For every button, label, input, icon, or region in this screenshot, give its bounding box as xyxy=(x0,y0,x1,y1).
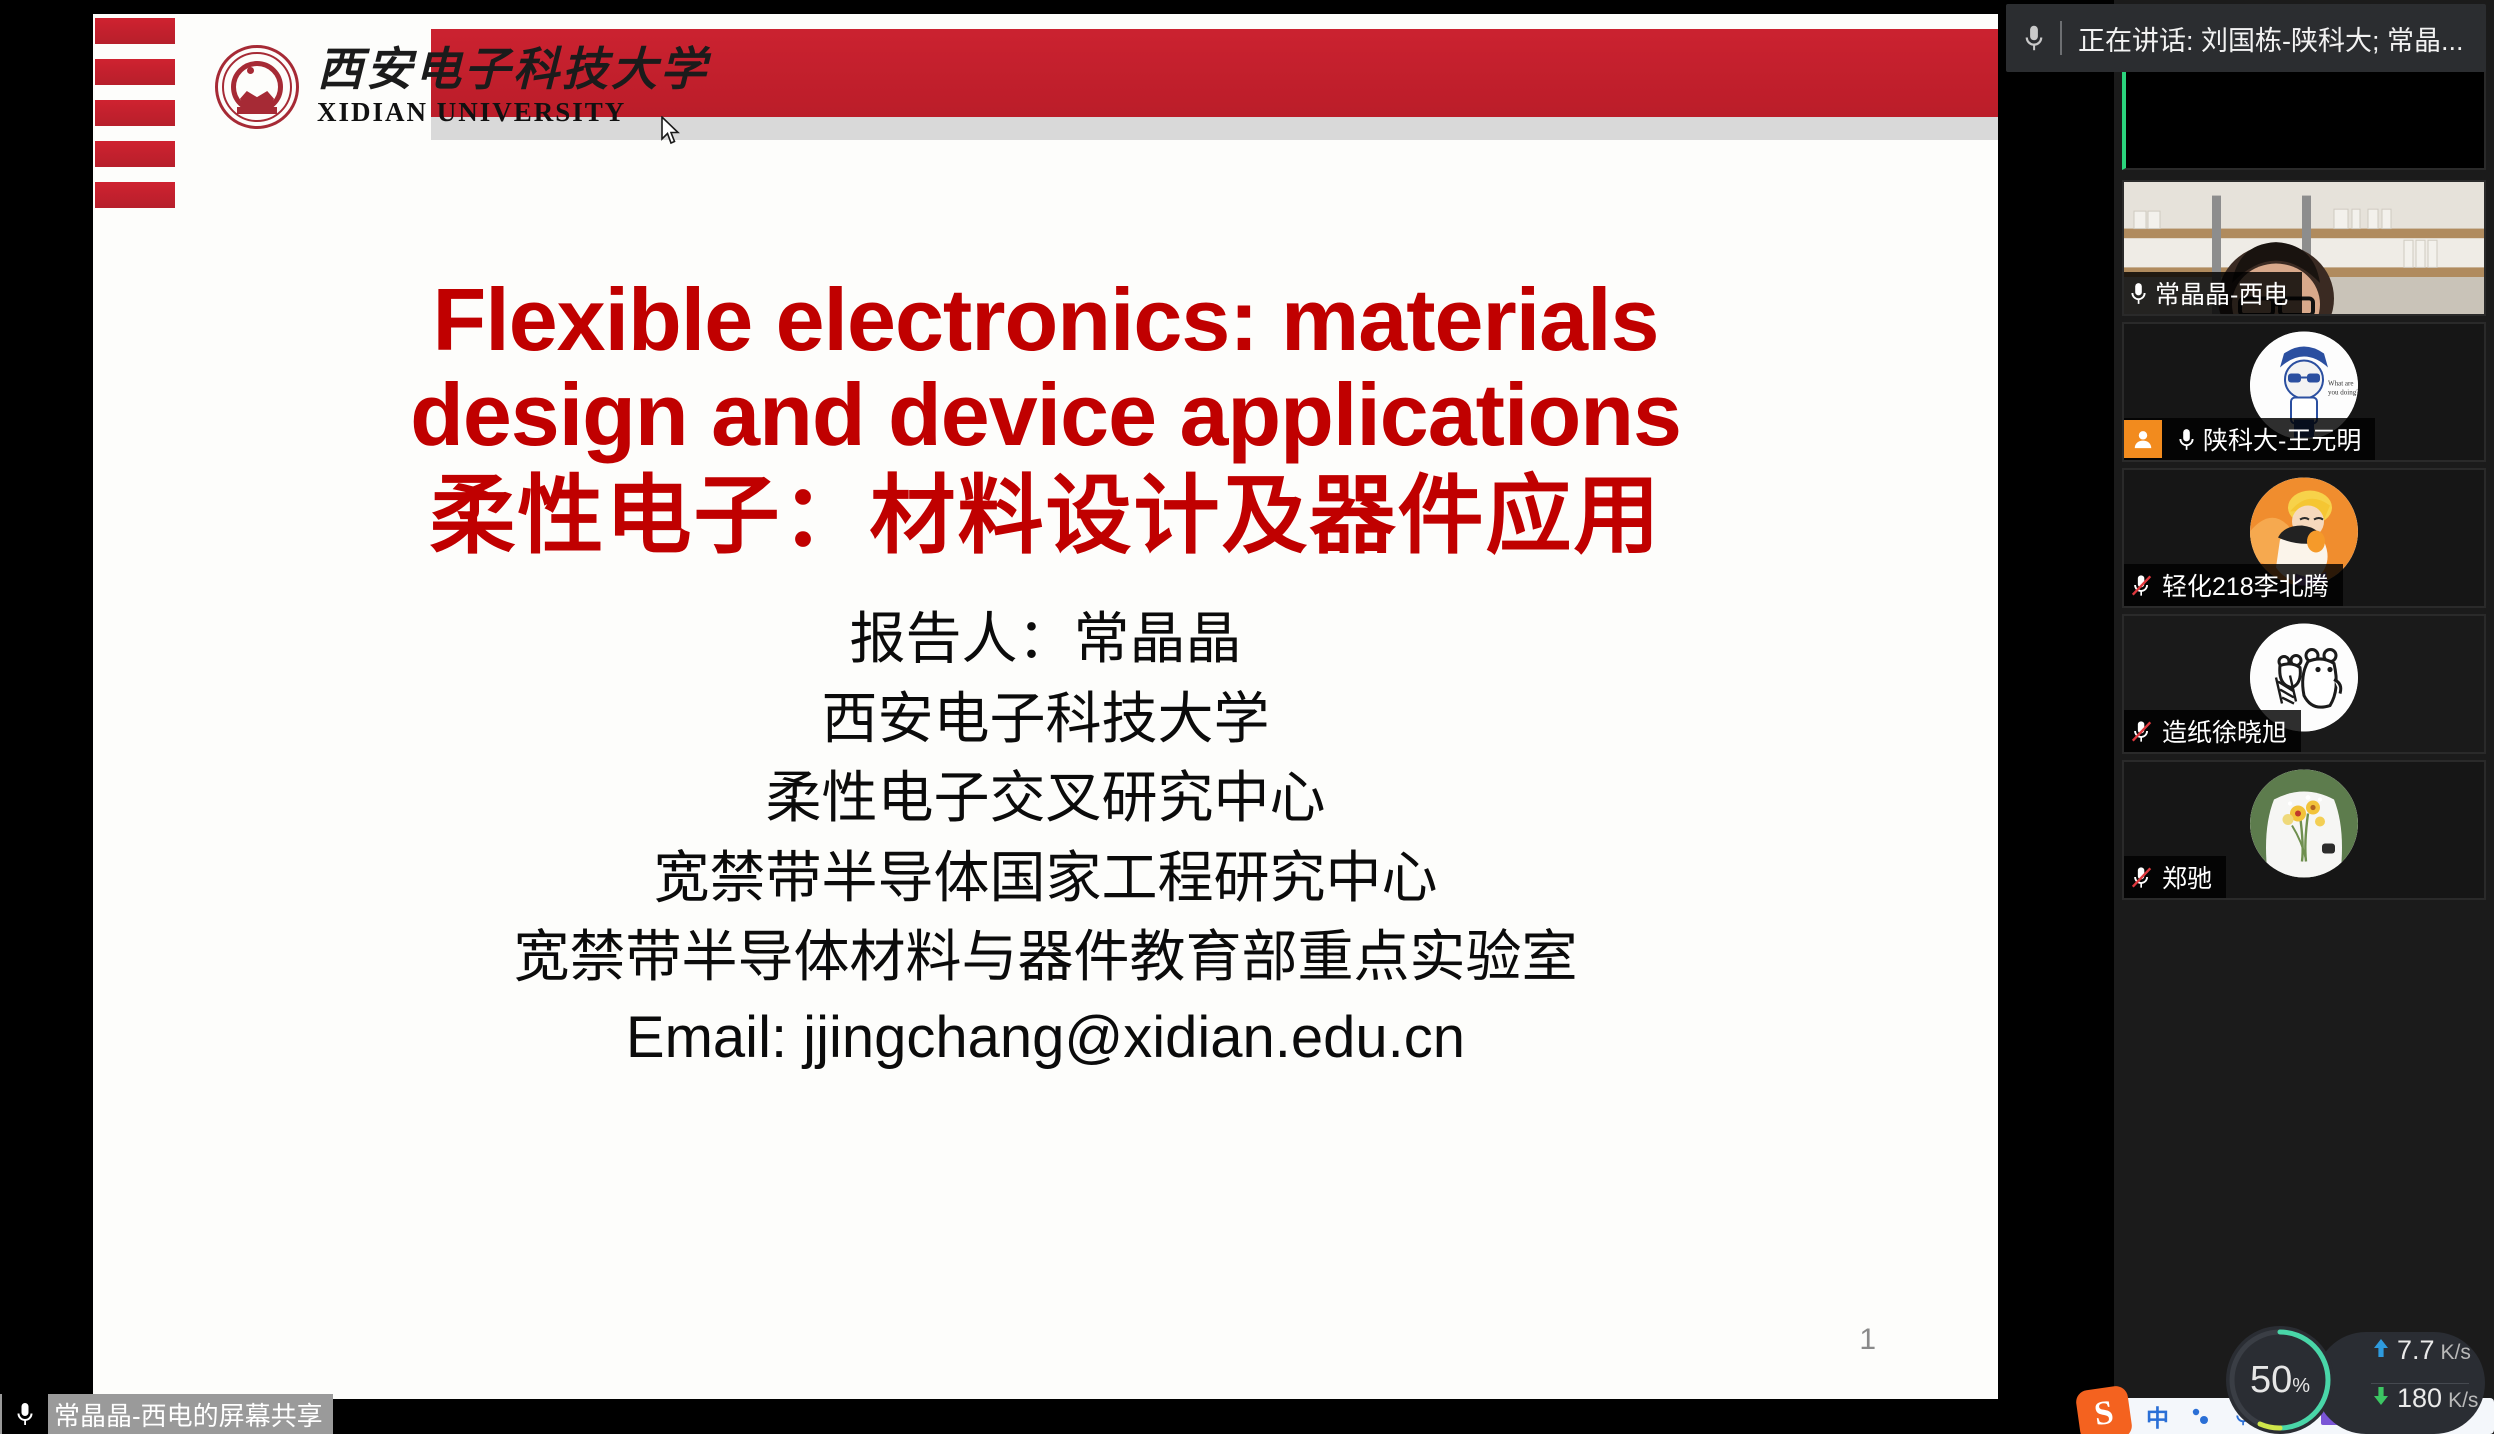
svg-text:What are: What are xyxy=(2328,380,2353,388)
gauge-value: 50 xyxy=(2250,1359,2292,1401)
participant-name-bar: 常晶晶-西电 xyxy=(2124,272,2302,314)
upload-speed-row: 7.7 K/s xyxy=(2371,1335,2485,1383)
participant-tile[interactable]: What are you doing? xyxy=(2122,322,2486,462)
participant-name-bar: 轻化218李北腾 xyxy=(2124,564,2343,606)
screen-share-status-pill: 常晶晶-西电的屏幕共享 xyxy=(0,1394,333,1434)
participant-tile[interactable]: 郑驰 xyxy=(2122,760,2486,900)
punctuation-icon[interactable] xyxy=(2189,1405,2213,1427)
gauge-label: 50% xyxy=(2250,1359,2310,1402)
slide-title: Flexible electronics: materials design a… xyxy=(93,272,1998,568)
participant-panel[interactable]: 常晶晶-西电 What are you d xyxy=(2000,0,2494,1434)
sogou-logo-icon[interactable]: S xyxy=(2075,1385,2134,1434)
network-speed-overlay: 7.7 K/s 180 K/s xyxy=(2315,1332,2485,1434)
ime-language-toggle[interactable]: 中 xyxy=(2146,1399,2169,1433)
participant-name-bar: 造纸徐晓旭 xyxy=(2124,710,2301,752)
participant-name-bar: 郑驰 xyxy=(2124,856,2226,898)
upload-speed-unit: K/s xyxy=(2441,1341,2471,1365)
participant-name: 轻化218李北腾 xyxy=(2162,567,2329,603)
resource-usage-gauge[interactable]: 50% xyxy=(2226,1326,2334,1434)
slide-body-line-4: 宽禁带半导体国家工程研究中心 xyxy=(93,838,1998,918)
xidian-crest-icon xyxy=(215,45,299,129)
microphone-icon xyxy=(2024,23,2044,53)
university-name-cn: 西安电子科技大学 xyxy=(317,46,709,94)
arrow-down-icon xyxy=(2371,1385,2391,1407)
participant-tile[interactable] xyxy=(2122,70,2486,170)
mic-on-icon xyxy=(2178,427,2195,452)
slide-email: Email: jjingchang@xidian.edu.cn xyxy=(93,997,1998,1079)
slide-title-line1: Flexible electronics: materials xyxy=(93,272,1998,367)
mic-muted-icon xyxy=(2130,573,2154,598)
active-speaker-text: 正在讲话: 刘国栋-陕科大; 常晶... xyxy=(2078,19,2464,58)
download-speed-value: 180 xyxy=(2397,1383,2442,1414)
banner-divider xyxy=(2060,21,2062,55)
slide-title-line3: 柔性电子：材料设计及器件应用 xyxy=(93,466,1998,567)
download-speed-row: 180 K/s xyxy=(2371,1383,2485,1431)
participant-tile[interactable]: 造纸徐晓旭 xyxy=(2122,614,2486,754)
upload-speed-value: 7.7 xyxy=(2397,1335,2435,1366)
mouse-cursor-icon xyxy=(660,116,682,146)
screen-root: 西安电子科技大学 XIDIAN UNIVERSITY Flexible elec… xyxy=(0,0,2494,1434)
overlay-divider xyxy=(2371,1383,2469,1384)
participant-scroll-area[interactable]: 常晶晶-西电 What are you d xyxy=(2114,0,2494,1434)
participant-tile[interactable]: 轻化218李北腾 xyxy=(2122,468,2486,608)
svg-text:you doing?: you doing? xyxy=(2328,389,2358,397)
slide-body: 报告人：常晶晶 西安电子科技大学 柔性电子交叉研究中心 宽禁带半导体国家工程研究… xyxy=(93,599,1998,1079)
slide-title-line2: design and device applications xyxy=(93,367,1998,462)
university-name-en: XIDIAN UNIVERSITY xyxy=(317,97,709,128)
slide-body-line-3: 柔性电子交叉研究中心 xyxy=(93,758,1998,838)
avatar xyxy=(2250,770,2358,878)
mic-muted-icon xyxy=(2130,719,2154,744)
participant-name: 常晶晶-西电 xyxy=(2155,275,2288,311)
mic-on-icon xyxy=(2130,281,2147,306)
shared-screen-region[interactable]: 西安电子科技大学 XIDIAN UNIVERSITY Flexible elec… xyxy=(0,0,2000,1434)
slide-page-number: 1 xyxy=(1859,1323,1876,1357)
slide-body-line-5: 宽禁带半导体材料与器件教育部重点实验室 xyxy=(93,917,1998,997)
participant-name: 陕科大-王元明 xyxy=(2203,421,2361,457)
slide-body-line-1: 报告人：常晶晶 xyxy=(93,599,1998,679)
active-speaker-banner: 正在讲话: 刘国栋-陕科大; 常晶... xyxy=(2006,4,2486,72)
participant-name: 郑驰 xyxy=(2162,859,2212,895)
mic-muted-icon xyxy=(2130,865,2154,890)
microphone-icon xyxy=(2,1394,48,1434)
participant-name: 造纸徐晓旭 xyxy=(2162,713,2287,749)
slide-decoration-stripes xyxy=(95,18,177,208)
screen-share-status-text: 常晶晶-西电的屏幕共享 xyxy=(54,1396,323,1433)
presentation-slide[interactable]: 西安电子科技大学 XIDIAN UNIVERSITY Flexible elec… xyxy=(93,14,1998,1399)
host-badge-icon xyxy=(2124,420,2162,458)
arrow-up-icon xyxy=(2371,1337,2391,1359)
participant-tile[interactable]: 常晶晶-西电 xyxy=(2122,180,2486,316)
gauge-unit: % xyxy=(2292,1375,2310,1397)
university-logo: 西安电子科技大学 XIDIAN UNIVERSITY xyxy=(215,44,709,130)
participant-name-bar: 陕科大-王元明 xyxy=(2124,418,2375,460)
download-speed-unit: K/s xyxy=(2448,1389,2478,1413)
slide-body-line-2: 西安电子科技大学 xyxy=(93,679,1998,759)
